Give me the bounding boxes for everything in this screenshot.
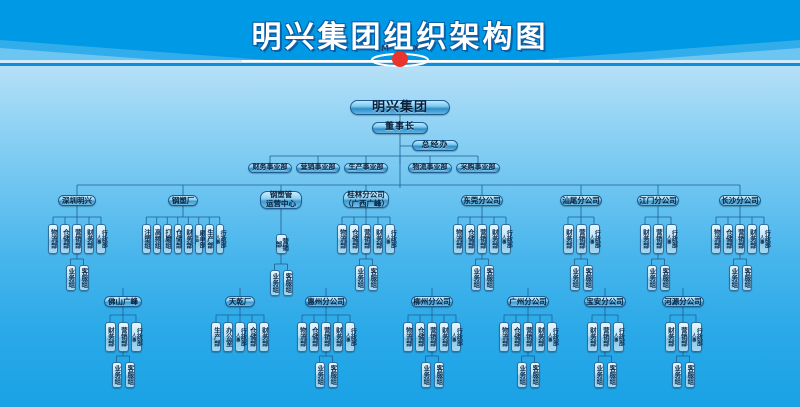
node-company-2-2-dept-2-label: 营销部 <box>323 327 330 347</box>
node-company-1-4-label: 东莞分公司 <box>463 197 501 205</box>
node-company-2-3-dept-1-label: 仓储部 <box>417 327 424 347</box>
company-1-3-label: 桂林分公司（广西广峰） <box>344 191 388 208</box>
node-company-2-1[interactable]: 天乾厂 <box>225 296 255 307</box>
node-company-2-3-team-1-label: 客服组 <box>435 365 442 385</box>
node-company-2-2-dept-0-label: 物流部 <box>299 327 306 347</box>
node-company-2-0-team-1-label: 客服组 <box>126 365 133 385</box>
node-company-1-3-dept-0[interactable]: 物流部 <box>337 224 347 254</box>
node-company-1-0-team-1[interactable]: 客服组 <box>79 265 89 291</box>
node-company-1-7-dept-4-label: 行政部人事 <box>759 230 770 248</box>
node-company-1-3-dept-2-label: 营销部 <box>363 229 370 249</box>
node-company-1-4-team-1-label: 客服组 <box>485 268 492 288</box>
node-company-2-5-dept-0[interactable]: 财务部 <box>587 322 598 352</box>
node-company-1-6-label: 江门分公司 <box>639 197 677 205</box>
node-company-1-5-dept-1-label: 营销部 <box>578 229 585 249</box>
node-company-2-2-dept-0[interactable]: 物流部 <box>297 322 307 352</box>
node-company-2-2-team-1-label: 客服组 <box>329 365 336 385</box>
node-company-1-7-dept-0-label: 物流部 <box>713 229 720 249</box>
node-division-3-label: 生产事业部 <box>349 164 384 171</box>
node-company-1-3-dept-3[interactable]: 财务部 <box>373 224 383 254</box>
node-company-2-1-dept-3[interactable]: 仓储部 <box>247 322 257 352</box>
node-company-2-5-team-1-label: 客服组 <box>608 365 615 385</box>
node-company-2-6-dept-2[interactable]: 行政部人事 <box>691 322 702 352</box>
node-company-2-0-dept-1-label: 营销部 <box>120 327 127 347</box>
node-company-1-1-dept-3[interactable]: 仓储部 <box>174 224 183 254</box>
node-company-2-3[interactable]: 柳州分公司 <box>411 296 453 307</box>
node-company-1-1-dept-1-label: 高频组 <box>153 229 160 249</box>
node-company-2-0-team-0[interactable]: 业务组 <box>112 362 122 388</box>
node-company-1-7-team-1-label: 客服组 <box>743 268 750 288</box>
node-company-2-1-dept-2[interactable]: 行政部人事 <box>235 322 245 352</box>
node-company-2-1-dept-0-label: 生产部 <box>213 327 220 347</box>
node-company-2-3-dept-4-label: 行政部人事 <box>451 328 462 346</box>
node-company-1-2-team-0-label: 业务组 <box>271 273 278 293</box>
node-company-1-5-team-1-label: 客服组 <box>584 268 591 288</box>
node-company-2-3-label: 柳州分公司 <box>413 298 451 306</box>
node-company-2-3-dept-2-label: 营销部 <box>429 327 436 347</box>
node-company-1-1-dept-6[interactable]: 生产部 <box>205 224 214 254</box>
node-company-1-4-dept-0[interactable]: 物流部 <box>453 224 463 254</box>
node-company-1-0-dept-2-label: 营销部 <box>74 229 81 249</box>
node-company-2-6-label: 河源分公司 <box>664 298 702 306</box>
node-company-1-2-team-1-label: 客服组 <box>284 273 291 293</box>
node-company-1-0-dept-0[interactable]: 物流部 <box>48 224 58 254</box>
node-company-2-0-team-1[interactable]: 客服组 <box>125 362 135 388</box>
node-company-1-4-team-1[interactable]: 客服组 <box>484 265 494 291</box>
node-company-2-4-dept-1[interactable]: 仓储部 <box>511 322 521 352</box>
node-company-1-1[interactable]: 钢塑厂 <box>168 195 198 206</box>
node-company-2-5-team-0-label: 业务组 <box>595 365 602 385</box>
node-company-2-6-dept-2-label: 行政部人事 <box>691 328 702 346</box>
node-company-2-5-team-0[interactable]: 业务组 <box>594 362 604 388</box>
node-company-2-2-dept-1-label: 仓储部 <box>311 327 318 347</box>
node-company-1-1-dept-5[interactable]: 跟单部生产 <box>195 224 204 254</box>
node-company-2-3-dept-4[interactable]: 行政部人事 <box>451 322 461 352</box>
node-company-2-0-dept-1[interactable]: 营销部 <box>118 322 129 352</box>
org-chart-nodes: 明兴集团董事长总经办财务事业部营销事业部生产事业部物流事业部采购事业部深圳明兴物… <box>0 0 800 407</box>
node-company-1-1-dept-4-label: 财务部 <box>185 229 192 249</box>
node-company-1-6-dept-0-label: 财务部 <box>642 229 649 249</box>
node-company-2-6-team-0[interactable]: 业务组 <box>672 362 682 388</box>
node-company-1-3-dept-1[interactable]: 仓储部 <box>349 224 359 254</box>
node-company-1-7-team-0-label: 业务组 <box>730 268 737 288</box>
node-company-2-4-dept-0[interactable]: 物流部 <box>499 322 509 352</box>
node-company-2-2-team-0-label: 业务组 <box>316 365 323 385</box>
node-company-1-4-dept-2[interactable]: 营销部 <box>477 224 487 254</box>
node-company-1-1-dept-1[interactable]: 高频组 <box>153 224 162 254</box>
node-division-5-label: 采购事业部 <box>461 164 496 171</box>
node-company-1-6-team-1-label: 客服组 <box>661 268 668 288</box>
node-general-office-label: 总经办 <box>422 141 449 149</box>
node-company-2-1-dept-0[interactable]: 生产部 <box>211 322 221 352</box>
node-company-1-3-team-1-label: 客服组 <box>369 268 376 288</box>
node-company-1-7-dept-2[interactable]: 营销部 <box>735 224 745 254</box>
node-company-1-2-dept-0-label: 营销部 <box>274 236 287 252</box>
node-company-1-7-dept-0[interactable]: 物流部 <box>711 224 721 254</box>
node-division-4[interactable]: 物流事业部 <box>408 163 452 173</box>
node-company-2-3-dept-1[interactable]: 仓储部 <box>415 322 425 352</box>
node-company-2-1-dept-3-label: 仓储部 <box>249 327 256 347</box>
node-company-1-5-dept-0[interactable]: 财务部 <box>563 224 574 254</box>
node-company-2-5[interactable]: 宝安分公司 <box>584 296 626 307</box>
node-company-2-4-dept-2[interactable]: 营销部 <box>523 322 533 352</box>
node-company-2-0-team-0-label: 业务组 <box>113 365 120 385</box>
node-company-2-3-dept-0-label: 物流部 <box>405 327 412 347</box>
node-company-2-4-team-1-label: 客服组 <box>531 365 538 385</box>
node-company-1-0-dept-4-label: 行政部人事 <box>96 230 107 248</box>
node-company-2-2-dept-3-label: 财务部 <box>335 327 342 347</box>
node-company-2-5-label: 宝安分公司 <box>586 298 624 306</box>
node-company-2-0-dept-0[interactable]: 财务部 <box>105 322 116 352</box>
node-company-1-3-dept-4-label: 行政部人事 <box>385 230 396 248</box>
node-company-2-1-dept-2-label: 行政部人事 <box>235 328 246 346</box>
node-company-2-0[interactable]: 佛山广峰 <box>104 296 142 307</box>
node-company-1-7-dept-1-label: 仓储部 <box>725 229 732 249</box>
node-general-office[interactable]: 总经办 <box>412 140 458 151</box>
node-company-2-0-dept-0-label: 财务部 <box>107 327 114 347</box>
node-company-2-6-team-1-label: 客服组 <box>686 365 693 385</box>
node-company-2-6-dept-1[interactable]: 营销部 <box>678 322 689 352</box>
node-company-1-1-dept-7[interactable]: 行政部人事 <box>216 224 225 254</box>
node-company-1-6-dept-1-label: 营销部 <box>655 229 662 249</box>
node-company-1-4-dept-0-label: 物流部 <box>455 229 462 249</box>
node-company-1-0-dept-2[interactable]: 营销部 <box>72 224 82 254</box>
node-company-1-1-dept-7-label: 行政部人事 <box>214 230 225 248</box>
node-company-2-4-dept-3-label: 财务部 <box>537 327 544 347</box>
node-company-2-3-dept-2[interactable]: 营销部 <box>427 322 437 352</box>
node-company-1-1-dept-2-label: 打磨组 <box>164 229 171 249</box>
node-company-1-4[interactable]: 东莞分公司 <box>461 195 503 206</box>
node-company-1-0-dept-4[interactable]: 行政部人事 <box>96 224 106 254</box>
node-company-2-4-dept-1-label: 仓储部 <box>513 327 520 347</box>
node-company-1-4-team-0-label: 业务组 <box>472 268 479 288</box>
node-division-1-label: 财务事业部 <box>253 164 288 171</box>
node-company-2-5-dept-1-label: 营销部 <box>602 327 609 347</box>
node-company-1-6-team-0[interactable]: 业务组 <box>647 265 657 291</box>
node-chairman[interactable]: 董事长 <box>372 122 428 134</box>
node-company-1-7-dept-3[interactable]: 财务部 <box>747 224 757 254</box>
node-company-2-5-dept-2-label: 行政部人事 <box>613 328 624 346</box>
node-company-2-4[interactable]: 广州分公司 <box>507 296 549 307</box>
node-company-1-1-dept-0-label: 注塑组 <box>143 229 150 249</box>
node-company-1-6-dept-0[interactable]: 财务部 <box>640 224 651 254</box>
node-company-2-3-dept-3[interactable]: 财务部 <box>439 322 449 352</box>
node-company-1-2-team-1[interactable]: 客服组 <box>283 270 293 296</box>
node-company-1-3-dept-4[interactable]: 行政部人事 <box>385 224 395 254</box>
node-company-2-6-dept-0-label: 财务部 <box>667 327 674 347</box>
node-company-2-6-dept-0[interactable]: 财务部 <box>665 322 676 352</box>
node-company-1-3-dept-2[interactable]: 营销部 <box>361 224 371 254</box>
node-company-2-2-dept-4-label: 行政部人事 <box>345 328 356 346</box>
node-company-1-0-team-0-label: 业务组 <box>67 268 74 288</box>
node-company-2-4-team-0-label: 业务组 <box>518 365 525 385</box>
node-company-2-4-dept-3[interactable]: 财务部 <box>535 322 545 352</box>
node-company-2-3-team-1[interactable]: 客服组 <box>434 362 444 388</box>
node-company-2-0-dept-2-label: 行政部人事 <box>131 328 142 346</box>
node-company-1-1-label: 钢塑厂 <box>172 197 195 205</box>
node-company-1-4-team-0[interactable]: 业务组 <box>471 265 481 291</box>
node-company-1-4-dept-3-label: 财务部 <box>491 229 498 249</box>
node-company-2-2[interactable]: 惠州分公司 <box>305 296 347 307</box>
node-company-1-4-dept-2-label: 营销部 <box>479 229 486 249</box>
node-company-1-7-dept-4[interactable]: 行政部人事 <box>759 224 769 254</box>
node-company-2-2-dept-4[interactable]: 行政部人事 <box>345 322 355 352</box>
node-company-2-1-label: 天乾厂 <box>229 298 252 306</box>
node-company-2-2-team-0[interactable]: 业务组 <box>315 362 325 388</box>
node-company-1-4-dept-1-label: 仓储部 <box>467 229 474 249</box>
node-company-1-5-dept-1[interactable]: 营销部 <box>576 224 587 254</box>
node-chairman-label: 董事长 <box>385 123 415 132</box>
node-division-2-label: 营销事业部 <box>301 164 336 171</box>
node-company-1-3-team-0-label: 业务组 <box>356 268 363 288</box>
node-company-2-2-label: 惠州分公司 <box>307 298 345 306</box>
node-company-1-0-team-1-label: 客服组 <box>80 268 87 288</box>
node-root-company[interactable]: 明兴集团 <box>350 100 450 115</box>
node-company-1-1-dept-3-label: 仓储部 <box>174 229 181 249</box>
node-company-2-5-dept-1[interactable]: 营销部 <box>600 322 611 352</box>
node-company-1-7-dept-1[interactable]: 仓储部 <box>723 224 733 254</box>
node-company-1-6[interactable]: 江门分公司 <box>637 195 679 206</box>
node-company-1-3-dept-1-label: 仓储部 <box>351 229 358 249</box>
node-company-2-1-dept-1-label: 办公室 <box>225 327 232 347</box>
node-company-2-4-team-1[interactable]: 客服组 <box>530 362 540 388</box>
node-company-1-5-team-0[interactable]: 业务组 <box>570 265 580 291</box>
node-company-1-6-team-0-label: 业务组 <box>648 268 655 288</box>
node-company-1-7[interactable]: 长沙分公司 <box>719 195 761 206</box>
node-company-1-7-dept-3-label: 财务部 <box>749 229 756 249</box>
node-company-1-1-dept-0[interactable]: 注塑组 <box>142 224 151 254</box>
node-company-2-0-dept-2[interactable]: 行政部人事 <box>131 322 142 352</box>
node-company-1-2-label: 钢塑管运营中心 <box>266 191 296 208</box>
node-company-1-1-dept-5-label: 跟单部生产 <box>193 230 204 248</box>
node-company-1-6-dept-1[interactable]: 营销部 <box>653 224 664 254</box>
node-company-2-3-dept-0[interactable]: 物流部 <box>403 322 413 352</box>
node-division-2[interactable]: 营销事业部 <box>296 163 340 173</box>
node-company-1-7-team-0[interactable]: 业务组 <box>729 265 739 291</box>
org-chart-poster: 明兴集团组织架构图 M X 明兴集团董事长总经办财务事业部营销事业部生产事业部物… <box>0 0 800 407</box>
node-company-1-2-dept-0[interactable]: 营销部 <box>276 234 287 254</box>
node-company-2-0-label: 佛山广峰 <box>108 298 138 306</box>
node-company-1-4-dept-1[interactable]: 仓储部 <box>465 224 475 254</box>
node-company-1-3-dept-0-label: 物流部 <box>339 229 346 249</box>
node-company-2-2-dept-3[interactable]: 财务部 <box>333 322 343 352</box>
node-root-company-label: 明兴集团 <box>372 101 428 114</box>
node-company-2-4-dept-4-label: 行政部人事 <box>547 328 558 346</box>
node-division-5[interactable]: 采购事业部 <box>456 163 500 173</box>
node-company-1-5-dept-2[interactable]: 行政部人事 <box>589 224 600 254</box>
node-company-1-7-dept-2-label: 营销部 <box>737 229 744 249</box>
node-company-2-4-label: 广州分公司 <box>509 298 547 306</box>
node-division-4-label: 物流事业部 <box>413 164 448 171</box>
node-company-1-0[interactable]: 深圳明兴 <box>58 195 96 206</box>
node-company-2-5-team-1[interactable]: 客服组 <box>607 362 617 388</box>
node-company-2-1-dept-4[interactable]: 财务部 <box>259 322 269 352</box>
node-company-1-1-dept-2[interactable]: 打磨组 <box>163 224 172 254</box>
node-company-1-4-dept-4[interactable]: 行政部人事 <box>501 224 511 254</box>
node-company-1-7-label: 长沙分公司 <box>721 197 759 205</box>
node-company-1-6-dept-2-label: 行政部人事 <box>666 230 677 248</box>
node-company-2-5-dept-2[interactable]: 行政部人事 <box>613 322 624 352</box>
node-company-2-3-dept-3-label: 财务部 <box>441 327 448 347</box>
node-company-2-6-team-1[interactable]: 客服组 <box>685 362 695 388</box>
node-company-2-3-team-0-label: 业务组 <box>422 365 429 385</box>
node-company-1-5-team-0-label: 业务组 <box>571 268 578 288</box>
node-company-2-6-dept-1-label: 营销部 <box>680 327 687 347</box>
node-company-1-3[interactable]: 桂林分公司（广西广峰） <box>343 191 389 208</box>
node-company-1-2-team-0[interactable]: 业务组 <box>270 270 280 296</box>
node-company-1-3-team-0[interactable]: 业务组 <box>355 265 365 291</box>
node-company-1-3-team-1[interactable]: 客服组 <box>368 265 378 291</box>
node-company-2-4-dept-0-label: 物流部 <box>501 327 508 347</box>
node-company-2-6[interactable]: 河源分公司 <box>662 296 704 307</box>
node-company-1-1-dept-4[interactable]: 财务部 <box>184 224 193 254</box>
node-company-1-0-label: 深圳明兴 <box>62 197 92 205</box>
node-division-1[interactable]: 财务事业部 <box>248 163 292 173</box>
node-company-2-2-dept-2[interactable]: 营销部 <box>321 322 331 352</box>
node-company-1-0-dept-1[interactable]: 仓储部 <box>60 224 70 254</box>
node-company-2-2-team-1[interactable]: 客服组 <box>328 362 338 388</box>
node-company-1-5-dept-0-label: 财务部 <box>565 229 572 249</box>
node-company-2-1-dept-4-label: 财务部 <box>261 327 268 347</box>
node-company-1-0-team-0[interactable]: 业务组 <box>66 265 76 291</box>
node-company-2-4-dept-4[interactable]: 行政部人事 <box>547 322 557 352</box>
node-company-1-0-dept-1-label: 仓储部 <box>62 229 69 249</box>
node-company-2-5-dept-0-label: 财务部 <box>589 327 596 347</box>
node-company-1-7-team-1[interactable]: 客服组 <box>742 265 752 291</box>
node-company-1-5-label: 汕尾分公司 <box>562 197 600 205</box>
node-company-1-0-dept-3[interactable]: 财务部 <box>84 224 94 254</box>
node-company-2-1-dept-1[interactable]: 办公室 <box>223 322 233 352</box>
node-company-1-5-dept-2-label: 行政部人事 <box>589 230 600 248</box>
node-company-1-2[interactable]: 钢塑管运营中心 <box>260 191 302 209</box>
node-company-2-2-dept-1[interactable]: 仓储部 <box>309 322 319 352</box>
node-company-2-4-dept-2-label: 营销部 <box>525 327 532 347</box>
node-company-1-4-dept-4-label: 行政部人事 <box>501 230 512 248</box>
node-company-1-5-team-1[interactable]: 客服组 <box>583 265 593 291</box>
node-company-1-3-dept-3-label: 财务部 <box>375 229 382 249</box>
node-company-1-6-dept-2[interactable]: 行政部人事 <box>666 224 677 254</box>
node-division-3[interactable]: 生产事业部 <box>344 163 388 173</box>
node-company-2-4-team-0[interactable]: 业务组 <box>517 362 527 388</box>
node-company-2-3-team-0[interactable]: 业务组 <box>421 362 431 388</box>
node-company-1-0-dept-0-label: 物流部 <box>50 229 57 249</box>
node-company-1-0-dept-3-label: 财务部 <box>86 229 93 249</box>
node-company-1-1-dept-6-label: 生产部 <box>206 229 213 249</box>
node-company-2-6-team-0-label: 业务组 <box>673 365 680 385</box>
node-company-1-4-dept-3[interactable]: 财务部 <box>489 224 499 254</box>
node-company-1-5[interactable]: 汕尾分公司 <box>560 195 602 206</box>
node-company-1-6-team-1[interactable]: 客服组 <box>660 265 670 291</box>
